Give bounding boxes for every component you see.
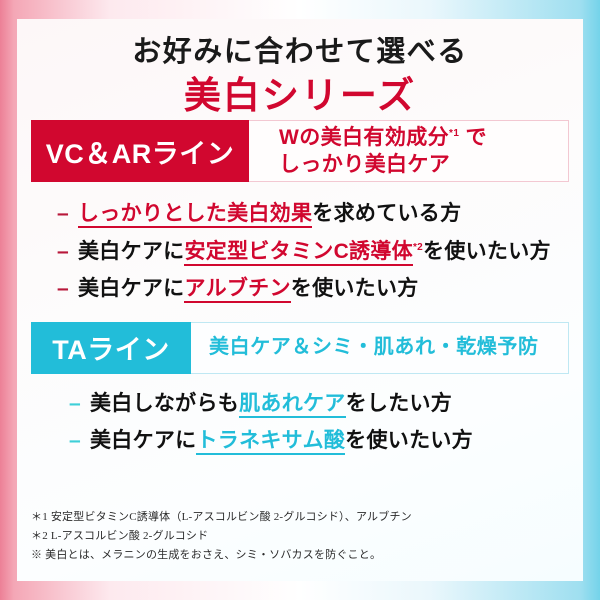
bullet-highlight: アルブチン [184,277,290,303]
bullet-text: 美白しながらも肌あれケアをしたい方 [90,390,452,418]
bullet-highlight: トラネキサム酸 [196,429,345,455]
section-headline-vc-line2: しっかり美白ケア [279,151,568,179]
section-headline-ta-line1: 美白ケア＆シミ・肌あれ・乾燥予防 [209,334,568,360]
bullet-highlight: 安定型ビタミンC誘導体 [184,240,412,266]
bullet-text-post: を求めている方 [312,202,461,225]
list-item: – 美白ケアに安定型ビタミンC誘導体*2を使いたい方 [57,238,583,266]
bullet-text-post: を使いたい方 [291,277,419,300]
footnotes: ＊1 安定型ビタミンC誘導体（L-アスコルビン酸 2-グルコシド）、アルブチン … [31,508,412,565]
bullet-dash-icon: – [57,275,69,303]
bullet-list-ta: – 美白しながらも肌あれケアをしたい方 – 美白ケアにトラネキサム酸を使いたい方 [17,374,583,456]
headline-vc-text-a: Wの美白有効成分 [279,126,449,149]
footnote-3: ※ 美白とは、メラニンの生成をおさえ、シミ・ソバカスを防ぐこと。 [31,546,412,565]
poster-background: お好みに合わせて選べる 美白シリーズ VC＆ARライン Wの美白有効成分*1 で… [0,0,600,600]
section-headline-ta: 美白ケア＆シミ・肌あれ・乾燥予防 [191,322,569,374]
bullet-text-post: を使いたい方 [423,240,551,263]
footnote-1: ＊1 安定型ビタミンC誘導体（L-アスコルビン酸 2-グルコシド）、アルブチン [31,508,412,527]
bullet-list-vc: – しっかりとした美白効果を求めている方 – 美白ケアに安定型ビタミンC誘導体*… [17,182,583,303]
section-tag-vc: VC＆ARライン [31,120,249,182]
bullet-text-pre: 美白ケアに [78,277,185,300]
list-item: – 美白ケアにアルブチンを使いたい方 [57,275,583,303]
headline-vc-superscript: *1 [449,128,459,139]
section-band-ta: TAライン 美白ケア＆シミ・肌あれ・乾燥予防 [31,322,569,374]
header-subtitle: お好みに合わせて選べる [17,35,583,70]
bullet-dash-icon: – [57,200,69,228]
section-tag-ta: TAライン [31,322,191,374]
headline-vc-text-b: で [459,126,487,149]
section-headline-vc: Wの美白有効成分*1 で しっかり美白ケア [249,120,569,182]
bullet-superscript: *2 [413,242,423,254]
bullet-text-pre: 美白ケアに [90,429,197,452]
bullet-highlight: しっかりとした美白効果 [78,202,312,228]
page-title: 美白シリーズ [17,72,583,120]
section-headline-vc-line1: Wの美白有効成分*1 で [279,124,568,152]
content-card: お好みに合わせて選べる 美白シリーズ VC＆ARライン Wの美白有効成分*1 で… [17,19,583,581]
list-item: – 美白ケアにトラネキサム酸を使いたい方 [69,427,583,455]
bullet-text: 美白ケアにトラネキサム酸を使いたい方 [90,427,473,455]
bullet-dash-icon: – [57,238,69,266]
bullet-text-pre: 美白しながらも [90,392,239,415]
bullet-highlight: 肌あれケア [239,392,346,418]
bullet-dash-icon: – [69,390,81,418]
bullet-text: しっかりとした美白効果を求めている方 [78,200,461,228]
bullet-text-post: をしたい方 [346,392,453,415]
bullet-dash-icon: – [69,427,81,455]
list-item: – 美白しながらも肌あれケアをしたい方 [69,390,583,418]
section-band-vc: VC＆ARライン Wの美白有効成分*1 で しっかり美白ケア [31,120,569,182]
bullet-text: 美白ケアに安定型ビタミンC誘導体*2を使いたい方 [78,238,551,266]
list-item: – しっかりとした美白効果を求めている方 [57,200,583,228]
bullet-text-post: を使いたい方 [345,429,473,452]
bullet-text-pre: 美白ケアに [78,240,185,263]
bullet-text: 美白ケアにアルブチンを使いたい方 [78,275,419,303]
footnote-2: ＊2 L-アスコルビン酸 2-グルコシド [31,527,412,546]
page-header: お好みに合わせて選べる 美白シリーズ [17,19,583,120]
